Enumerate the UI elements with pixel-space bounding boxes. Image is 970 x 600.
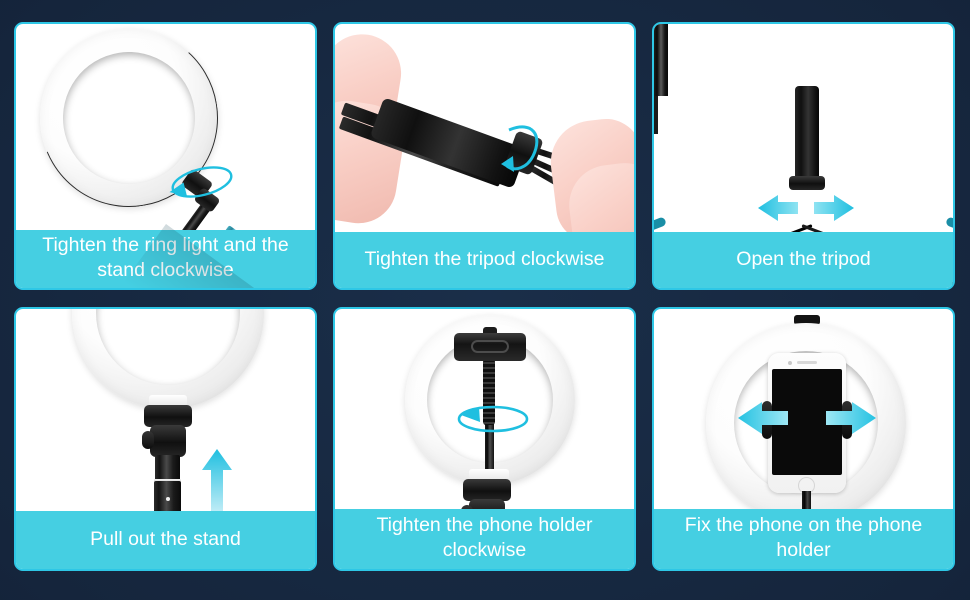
step-panel-1[interactable]: Tighten the ring light and the stand clo… bbox=[14, 22, 317, 290]
panel-2-caption: Tighten the tripod clockwise bbox=[335, 232, 634, 288]
panel-6-caption-text: Fix the phone on the phone holder bbox=[660, 513, 947, 563]
panel-5-caption-text: Tighten the phone holder clockwise bbox=[341, 513, 628, 563]
mount-knob bbox=[463, 479, 511, 501]
center-spike bbox=[654, 96, 658, 134]
instruction-sheet: Tighten the ring light and the stand clo… bbox=[0, 0, 970, 600]
panel-1-caption-text: Tighten the ring light and the stand clo… bbox=[22, 233, 309, 283]
tripod-foot-right bbox=[945, 216, 953, 232]
left-right-arrows-icon bbox=[736, 399, 878, 437]
panel-5-caption: Tighten the phone holder clockwise bbox=[335, 509, 634, 569]
panel-6-caption: Fix the phone on the phone holder bbox=[654, 509, 953, 569]
rotate-ellipse-arrow-icon bbox=[495, 110, 551, 190]
panel-grid: Tighten the ring light and the stand clo… bbox=[14, 22, 956, 578]
upper-tube bbox=[654, 24, 668, 96]
rotate-ccw-ellipse-arrow-icon bbox=[154, 150, 238, 212]
ring-light-graphic bbox=[72, 309, 264, 409]
step-panel-6[interactable]: Fix the phone on the phone holder bbox=[652, 307, 955, 571]
segment-dot-1 bbox=[166, 497, 170, 501]
up-arrow-icon bbox=[202, 449, 232, 517]
double-outward-arrows-icon bbox=[754, 194, 858, 228]
step-panel-3[interactable]: Open the tripod bbox=[652, 22, 955, 290]
phone-earpiece bbox=[797, 361, 817, 364]
panel-1-caption: Tighten the ring light and the stand clo… bbox=[16, 230, 315, 288]
foam-grip bbox=[795, 86, 819, 181]
panel-3-caption: Open the tripod bbox=[654, 232, 953, 288]
tilt-screw bbox=[142, 431, 154, 449]
tripod-foot-left bbox=[654, 216, 667, 232]
tripod-hub bbox=[789, 176, 825, 190]
phone-front-camera bbox=[788, 361, 792, 365]
clamp-inner-outline bbox=[471, 340, 509, 353]
step-panel-2[interactable]: Tighten the tripod clockwise bbox=[333, 22, 636, 290]
ball-head bbox=[150, 425, 186, 457]
rotate-ellipse-arrow-icon bbox=[445, 395, 541, 441]
step-panel-5[interactable]: Tighten the phone holder clockwise bbox=[333, 307, 636, 571]
mount-knob bbox=[144, 405, 192, 427]
step-panel-4[interactable]: Pull out the stand bbox=[14, 307, 317, 571]
panel-2-caption-text: Tighten the tripod clockwise bbox=[365, 247, 605, 272]
panel-4-caption-text: Pull out the stand bbox=[90, 527, 241, 552]
panel-3-caption-text: Open the tripod bbox=[736, 247, 870, 272]
panel-4-caption: Pull out the stand bbox=[16, 511, 315, 569]
